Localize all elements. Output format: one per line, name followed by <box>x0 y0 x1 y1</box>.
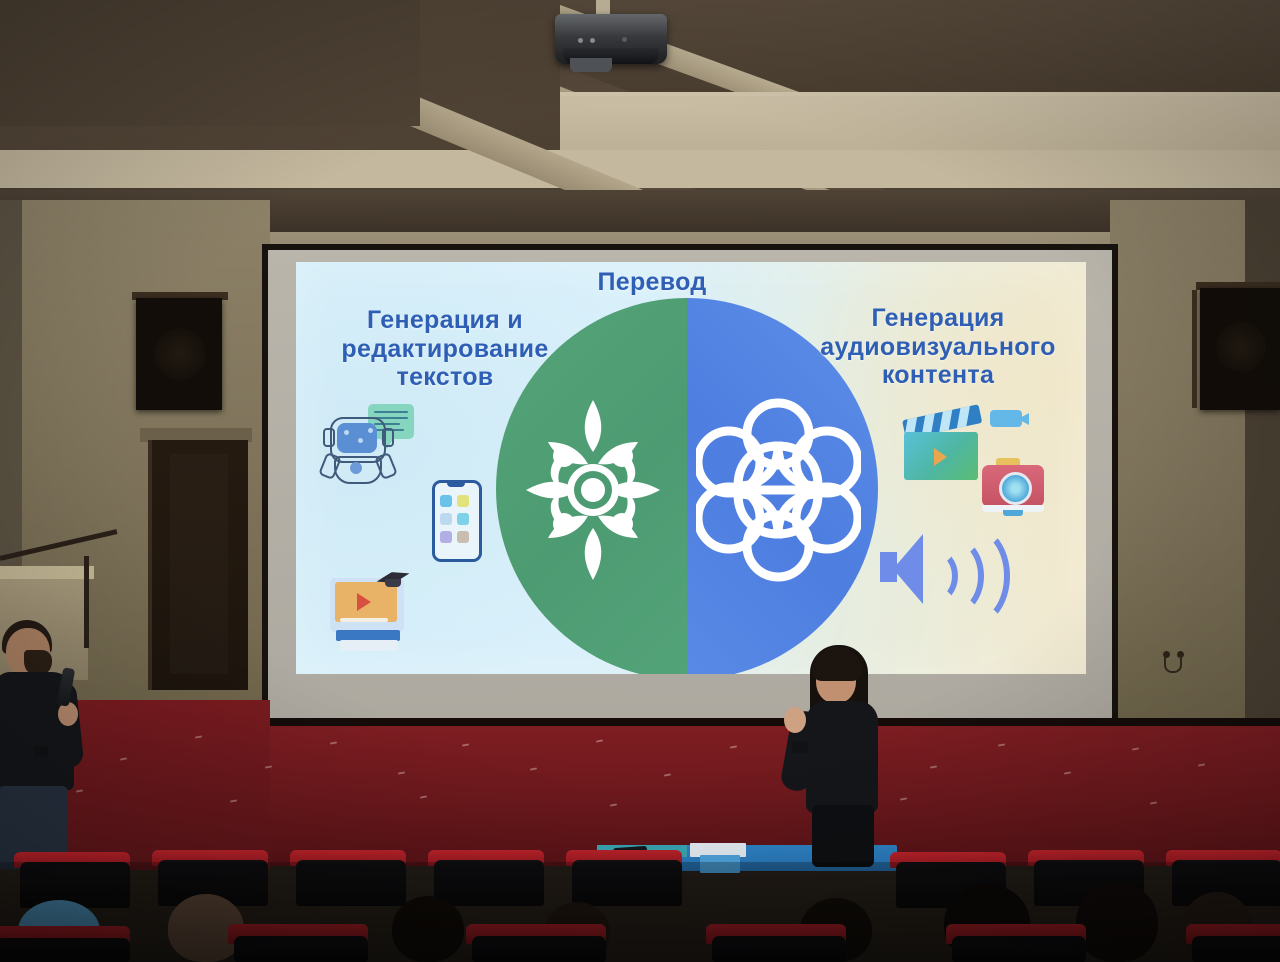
projector-led-3 <box>622 37 627 42</box>
phone-body <box>432 480 482 562</box>
projector-led-1 <box>578 38 583 43</box>
play-button-icon <box>357 593 371 611</box>
ceiling-soffit-band <box>560 96 1280 150</box>
wall-speaker-left <box>136 298 222 410</box>
ceiling-soffit-lower <box>0 148 1280 188</box>
slide-label-translation: Перевод <box>532 268 772 297</box>
seat-back <box>572 860 682 906</box>
speaker-cone-left <box>154 328 206 380</box>
side-door[interactable] <box>148 440 248 690</box>
table-paper-2 <box>700 855 740 873</box>
slide-label-av-generation: Генерация аудиовизуального контента <box>808 304 1068 390</box>
door-panel <box>170 454 228 674</box>
phone-app-5 <box>440 531 452 543</box>
chatbot-robot-icon <box>324 404 434 488</box>
sound-wave-3 <box>938 526 1010 626</box>
ceiling-wedge <box>0 0 420 126</box>
projection-screen: Перевод Генерация и редактирование текст… <box>296 262 1086 674</box>
smartphone-apps-icon <box>432 480 482 562</box>
projector-lens <box>570 58 612 72</box>
interlaced-knot-ornament <box>696 390 861 595</box>
presenter-left-watch <box>34 746 48 757</box>
video-progress-bar <box>340 618 388 622</box>
book-2 <box>340 640 398 651</box>
ceiling-projector <box>555 14 667 64</box>
seat-front <box>1192 936 1280 962</box>
phone-app-3 <box>440 513 452 525</box>
graduation-cap-base <box>385 579 401 587</box>
seat-front <box>712 936 846 962</box>
phone-app-2 <box>457 495 469 507</box>
photo-camera-icon <box>982 458 1052 516</box>
seat-front <box>234 936 368 962</box>
tatar-floral-rosette-ornament <box>518 390 668 595</box>
seat-back <box>20 862 130 908</box>
speaker-sound-icon <box>880 530 1000 614</box>
phone-notch <box>447 483 465 487</box>
seat-front <box>0 938 130 962</box>
phone-app-6 <box>457 531 469 543</box>
seat-back <box>296 860 406 906</box>
presenter-left-hand <box>58 702 78 726</box>
seat-front <box>952 936 1086 962</box>
presenter-right-hand <box>784 707 806 733</box>
camera-foot <box>1003 510 1023 516</box>
camera-lens <box>999 472 1032 505</box>
seat-back <box>434 860 544 906</box>
photo-canvas: Перевод Генерация и редактирование текст… <box>0 0 1280 962</box>
phone-app-1 <box>440 495 452 507</box>
phone-app-4 <box>457 513 469 525</box>
video-camera-icon <box>990 410 1022 427</box>
audience-member <box>392 896 464 962</box>
clapper-play-icon <box>934 448 947 466</box>
presenter-speaking <box>780 645 890 865</box>
wall-speaker-right <box>1200 288 1280 410</box>
clapper-stripe-4 <box>956 404 970 434</box>
robot-dot-3 <box>368 428 373 433</box>
video-lesson-monitor-icon <box>322 570 432 648</box>
lectern-top <box>0 566 94 579</box>
projector-led-2 <box>590 38 595 43</box>
speaker-pole-right <box>1192 290 1197 408</box>
robot-dot-1 <box>344 430 349 435</box>
presenter-with-microphone <box>0 620 114 870</box>
robot-dot-2 <box>358 438 363 443</box>
seat-front <box>472 936 606 962</box>
presenter-right-lower <box>812 805 874 867</box>
speaker-cone-right <box>1216 322 1266 372</box>
wall-hook <box>1164 655 1182 673</box>
audience-member <box>1076 882 1158 962</box>
slide-label-text-generation: Генерация и редактирование текстов <box>320 306 570 392</box>
presenter-right-watch <box>792 741 808 753</box>
bubble-line-1 <box>374 411 408 413</box>
robot-chest-button <box>350 462 362 474</box>
